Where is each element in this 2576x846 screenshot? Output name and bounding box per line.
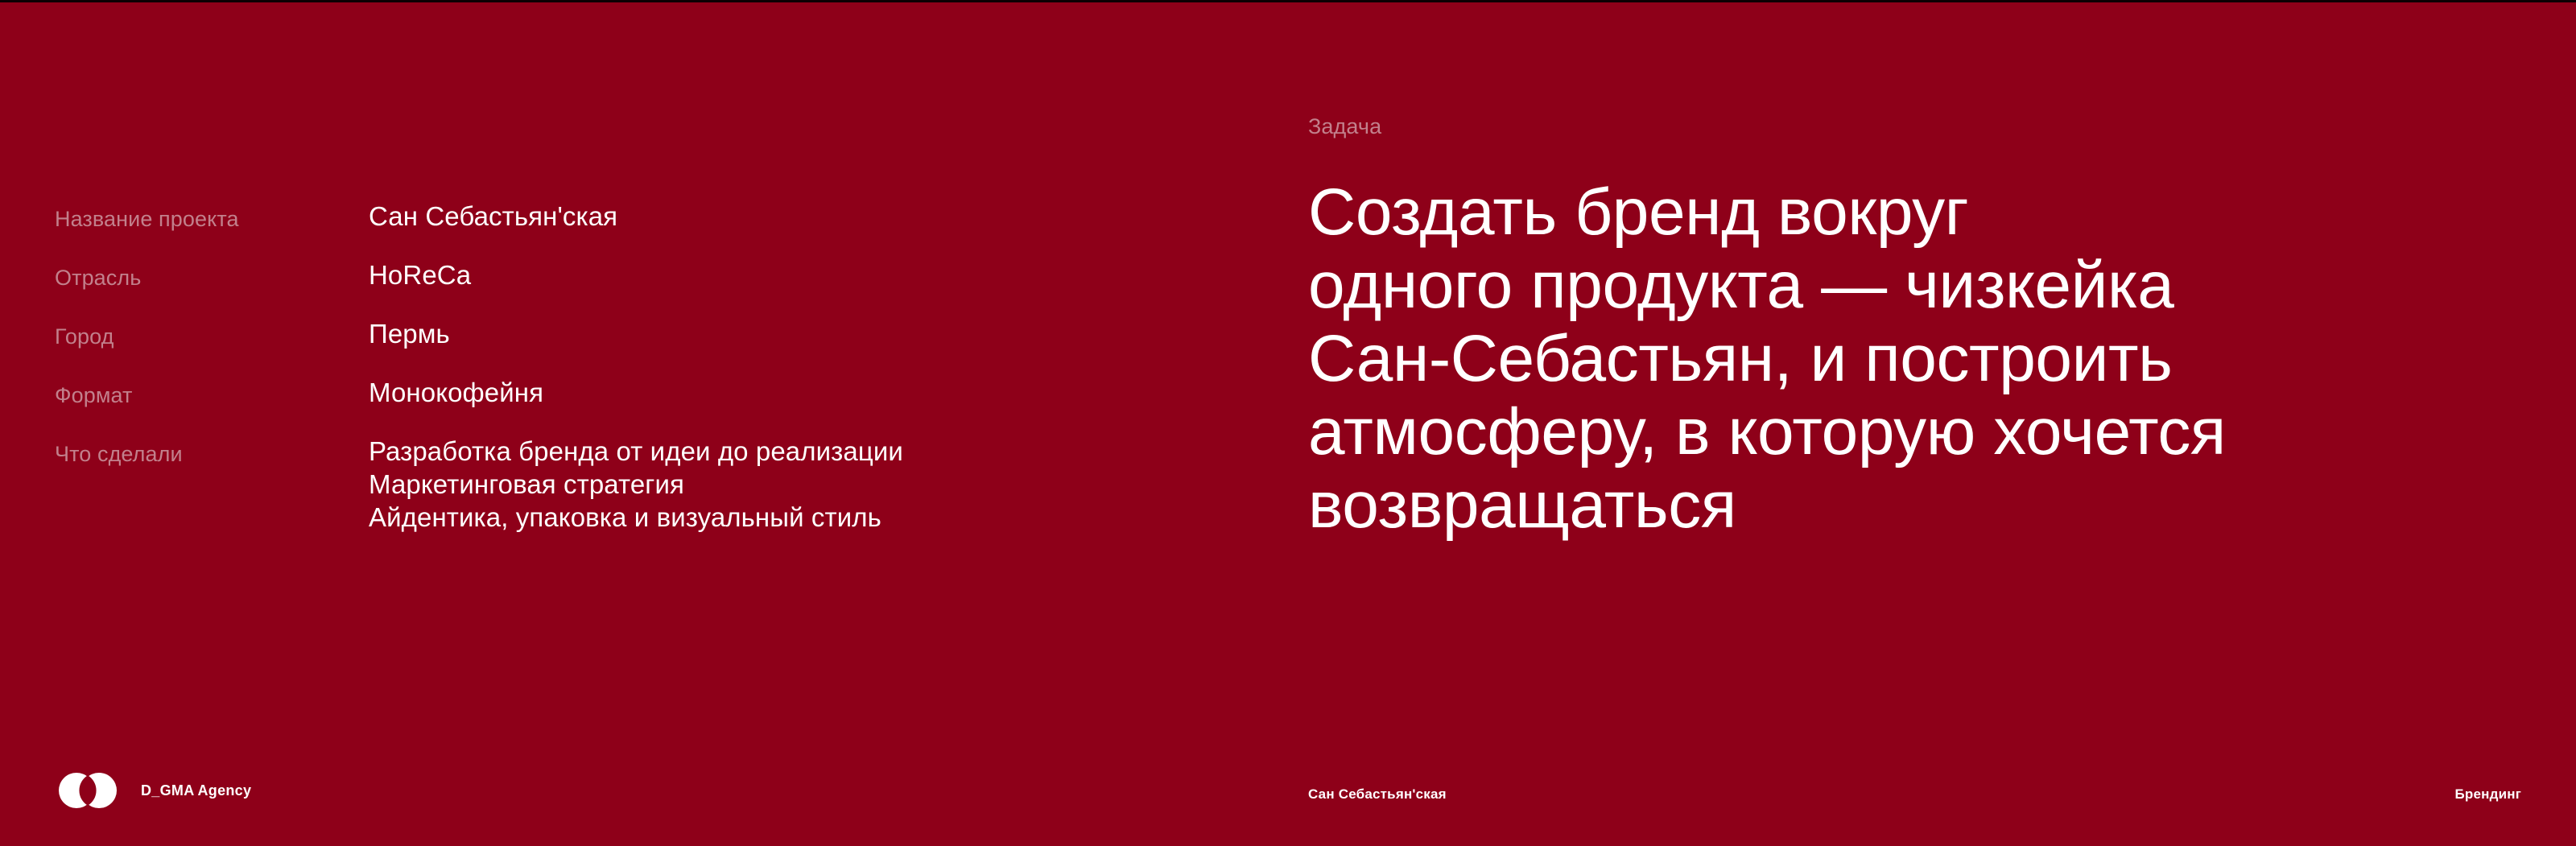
table-row: Формат Монокофейня <box>55 376 1182 435</box>
table-row: Город Пермь <box>55 317 1182 376</box>
spec-value-industry: HoReCa <box>369 258 1182 291</box>
spec-value-line: Разработка бренда от идеи до реализации <box>369 435 1182 468</box>
spec-label-city: Город <box>55 317 369 351</box>
spec-value-project-name: Сан Себастьян'ская <box>369 200 1182 233</box>
table-row: Название проекта Сан Себастьян'ская <box>55 200 1182 258</box>
footer-agency-name: D_GMA Agency <box>141 782 251 799</box>
headline-line: атмосферу, в которую хочется <box>1308 395 2516 468</box>
task-headline: Создать бренд вокруг одного продукта — ч… <box>1308 175 2516 542</box>
spec-value-line: Айдентика, упаковка и визуальный стиль <box>369 501 1182 534</box>
slide-footer: D_GMA Agency Сан Себастьян'ская Брендинг <box>0 757 2576 846</box>
top-edge-strip <box>0 0 2576 2</box>
footer-category: Брендинг <box>2454 786 2521 803</box>
spec-value-format: Монокофейня <box>369 376 1182 409</box>
spec-value-city: Пермь <box>369 317 1182 350</box>
spec-label-industry: Отрасль <box>55 258 369 292</box>
footer-project-name: Сан Себастьян'ская <box>1308 786 1447 803</box>
spec-value-line: Пермь <box>369 317 1182 350</box>
table-row: Отрасль HoReCa <box>55 258 1182 317</box>
spec-value-line: Сан Себастьян'ская <box>369 200 1182 233</box>
headline-line: Сан-Себастьян, и построить <box>1308 322 2516 395</box>
spec-value-line: Монокофейня <box>369 376 1182 409</box>
task-eyebrow-label: Задача <box>1308 113 2516 140</box>
venn-circles-logo-icon <box>59 773 117 808</box>
spec-value-line: Маркетинговая стратегия <box>369 468 1182 501</box>
task-block: Задача Создать бренд вокруг одного проду… <box>1308 113 2516 542</box>
table-row: Что сделали Разработка бренда от идеи до… <box>55 435 1182 534</box>
presentation-slide: Название проекта Сан Себастьян'ская Отра… <box>0 0 2576 846</box>
headline-line: одного продукта — чизкейка <box>1308 249 2516 322</box>
spec-label-deliverables: Что сделали <box>55 435 369 468</box>
headline-line: возвращаться <box>1308 468 2516 542</box>
spec-label-project-name: Название проекта <box>55 200 369 233</box>
spec-value-line: HoReCa <box>369 258 1182 291</box>
headline-line: Создать бренд вокруг <box>1308 175 2516 249</box>
project-spec-table: Название проекта Сан Себастьян'ская Отра… <box>55 200 1182 534</box>
spec-label-format: Формат <box>55 376 369 410</box>
spec-value-deliverables: Разработка бренда от идеи до реализации … <box>369 435 1182 534</box>
footer-brand-group: D_GMA Agency <box>59 773 251 808</box>
